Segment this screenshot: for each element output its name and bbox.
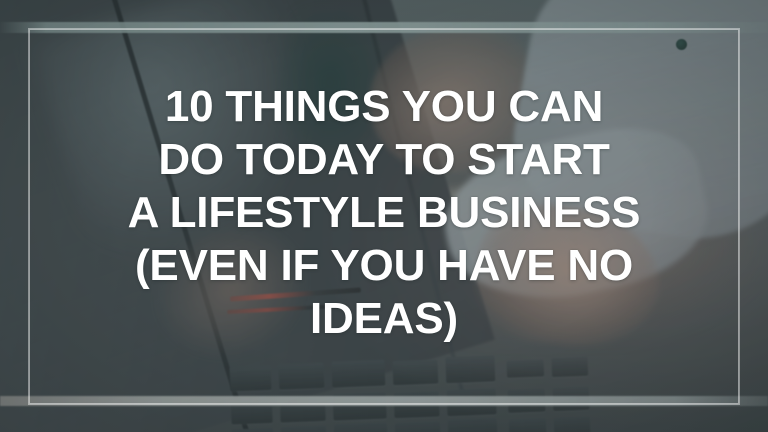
- featured-image-canvas: 10 THINGS YOU CAN DO TODAY TO START A LI…: [0, 0, 768, 432]
- title-line-2: DO TODAY TO START: [158, 133, 609, 186]
- title-line-3: A LIFESTYLE BUSINESS: [128, 186, 641, 239]
- title-line-4: (EVEN IF YOU HAVE NO: [135, 239, 633, 292]
- title-line-1: 10 THINGS YOU CAN: [165, 80, 603, 133]
- title-line-5: IDEAS): [310, 292, 458, 345]
- title-block: 10 THINGS YOU CAN DO TODAY TO START A LI…: [0, 80, 768, 345]
